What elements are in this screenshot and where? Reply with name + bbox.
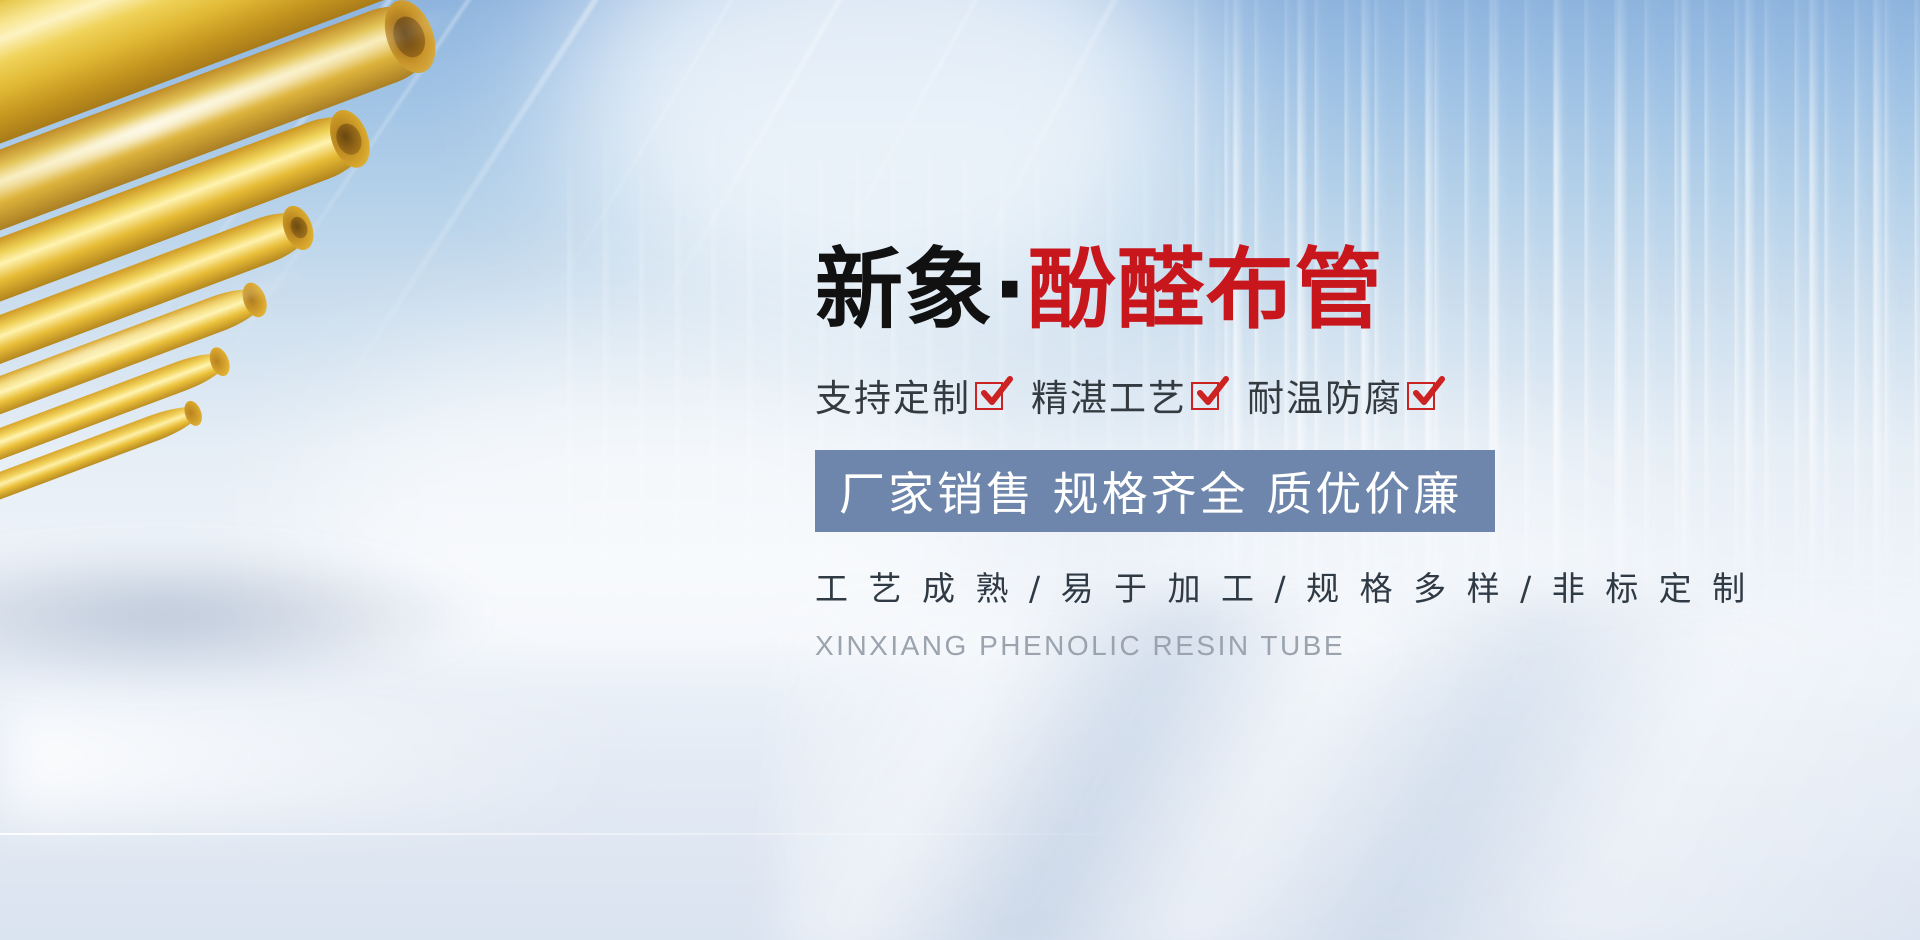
floor-edge-line xyxy=(0,833,1160,835)
highlight-bar-text: 厂家销售 规格齐全 质优价廉 xyxy=(839,458,1462,524)
product-shadow xyxy=(0,540,500,690)
tagline: 工 艺 成 熟 / 易 于 加 工 / 规 格 多 样 / 非 标 定 制 xyxy=(815,562,1615,610)
english-subtitle: XINXIANG PHENOLIC RESIN TUBE xyxy=(815,630,1615,662)
feature-list: 支持定制 精湛工艺 耐温防腐 xyxy=(815,368,1615,422)
feature-label-2: 精湛工艺 xyxy=(1031,368,1187,422)
title-product: 酚醛布管 xyxy=(1027,238,1383,341)
page-title: 新象·酚醛布管 xyxy=(815,246,1615,334)
banner-stage: 新象·酚醛布管 支持定制 精湛工艺 耐温防腐 xyxy=(0,0,1920,940)
checkbox-checked-icon xyxy=(975,378,1009,412)
product-image xyxy=(0,40,680,720)
checkbox-checked-icon xyxy=(1407,378,1441,412)
banner-copy: 新象·酚醛布管 支持定制 精湛工艺 耐温防腐 xyxy=(815,246,1615,662)
title-brand: 新象 xyxy=(815,238,993,341)
title-separator: · xyxy=(993,238,1027,341)
checkbox-checked-icon xyxy=(1191,378,1225,412)
feature-label-3: 耐温防腐 xyxy=(1247,368,1403,422)
highlight-bar: 厂家销售 规格齐全 质优价廉 xyxy=(815,450,1495,532)
feature-label-1: 支持定制 xyxy=(815,368,971,422)
